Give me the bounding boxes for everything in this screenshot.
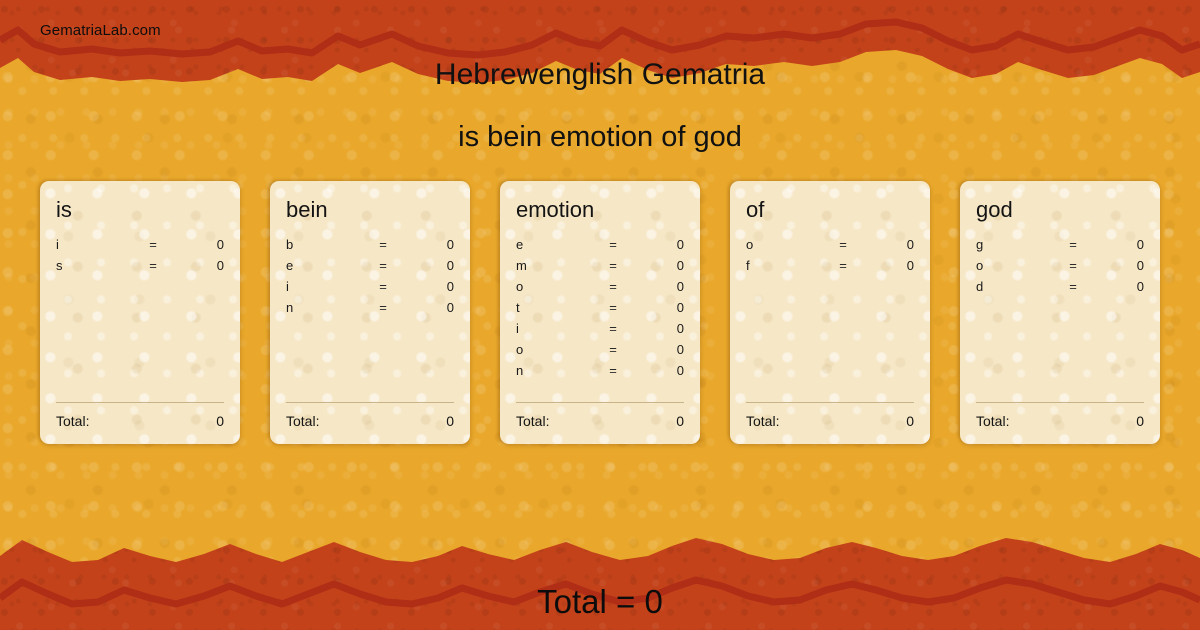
letter-glyph: t <box>516 300 590 315</box>
letter-glyph: o <box>746 237 820 252</box>
card-total-row: Total:0 <box>976 413 1144 429</box>
letter-glyph: i <box>286 279 360 294</box>
letter-value: 0 <box>176 258 224 273</box>
letter-value: 0 <box>406 279 454 294</box>
card-total-value: 0 <box>216 413 224 429</box>
equals-sign: = <box>590 300 636 315</box>
word-card-title: bein <box>286 199 454 221</box>
letter-glyph: f <box>746 258 820 273</box>
letter-value-row: o=0 <box>746 237 914 258</box>
letter-value: 0 <box>406 237 454 252</box>
letter-glyph: s <box>56 258 130 273</box>
letter-value-row: f=0 <box>746 258 914 279</box>
letter-value: 0 <box>176 237 224 252</box>
letter-value-row: g=0 <box>976 237 1144 258</box>
card-divider <box>746 402 914 403</box>
word-card: beinb=0e=0i=0n=0Total:0 <box>270 181 470 444</box>
letter-value-list: e=0m=0o=0t=0i=0o=0n=0 <box>516 237 684 384</box>
equals-sign: = <box>360 237 406 252</box>
equals-sign: = <box>590 342 636 357</box>
card-total-label: Total: <box>286 413 319 429</box>
letter-value: 0 <box>636 321 684 336</box>
letter-value: 0 <box>636 300 684 315</box>
equals-sign: = <box>590 279 636 294</box>
word-card-title: is <box>56 199 224 221</box>
card-total-value: 0 <box>446 413 454 429</box>
letter-value-row: m=0 <box>516 258 684 279</box>
card-divider <box>56 402 224 403</box>
letter-glyph: o <box>516 342 590 357</box>
card-divider <box>516 402 684 403</box>
card-total-label: Total: <box>516 413 549 429</box>
letter-value-row: n=0 <box>286 300 454 321</box>
gematria-result-image: GematriaLab.com Hebrewenglish Gematria i… <box>0 0 1200 630</box>
equals-sign: = <box>1050 279 1096 294</box>
card-total-row: Total:0 <box>516 413 684 429</box>
equals-sign: = <box>590 321 636 336</box>
letter-glyph: n <box>516 363 590 378</box>
card-divider <box>976 402 1144 403</box>
card-total-value: 0 <box>906 413 914 429</box>
letter-value-row: e=0 <box>286 258 454 279</box>
word-card-title: emotion <box>516 199 684 221</box>
phrase-subtitle: is bein emotion of god <box>0 121 1200 154</box>
site-logo[interactable]: GematriaLab.com <box>40 22 161 39</box>
letter-value: 0 <box>636 363 684 378</box>
letter-value-list: o=0f=0 <box>746 237 914 279</box>
letter-value-row: s=0 <box>56 258 224 279</box>
letter-glyph: n <box>286 300 360 315</box>
equals-sign: = <box>590 258 636 273</box>
letter-glyph: e <box>286 258 360 273</box>
letter-glyph: e <box>516 237 590 252</box>
card-divider <box>286 402 454 403</box>
letter-value-row: e=0 <box>516 237 684 258</box>
letter-value-row: o=0 <box>516 279 684 300</box>
letter-value: 0 <box>636 258 684 273</box>
card-total-row: Total:0 <box>746 413 914 429</box>
equals-sign: = <box>820 258 866 273</box>
letter-value: 0 <box>1096 258 1144 273</box>
word-card: isi=0s=0Total:0 <box>40 181 240 444</box>
equals-sign: = <box>130 258 176 273</box>
letter-value-list: i=0s=0 <box>56 237 224 279</box>
letter-glyph: d <box>976 279 1050 294</box>
letter-glyph: i <box>56 237 130 252</box>
letter-value-row: d=0 <box>976 279 1144 300</box>
letter-glyph: o <box>976 258 1050 273</box>
equals-sign: = <box>1050 237 1096 252</box>
word-card: godg=0o=0d=0Total:0 <box>960 181 1160 444</box>
letter-value-row: o=0 <box>516 342 684 363</box>
letter-value-row: o=0 <box>976 258 1144 279</box>
equals-sign: = <box>590 237 636 252</box>
word-card: emotione=0m=0o=0t=0i=0o=0n=0Total:0 <box>500 181 700 444</box>
letter-value: 0 <box>636 237 684 252</box>
letter-value: 0 <box>636 279 684 294</box>
equals-sign: = <box>360 258 406 273</box>
grand-total: Total = 0 <box>0 583 1200 621</box>
letter-value: 0 <box>406 258 454 273</box>
letter-value: 0 <box>406 300 454 315</box>
letter-glyph: g <box>976 237 1050 252</box>
equals-sign: = <box>360 300 406 315</box>
card-total-label: Total: <box>746 413 779 429</box>
letter-glyph: b <box>286 237 360 252</box>
letter-glyph: i <box>516 321 590 336</box>
letter-value: 0 <box>866 237 914 252</box>
equals-sign: = <box>1050 258 1096 273</box>
letter-value-row: t=0 <box>516 300 684 321</box>
letter-value-list: b=0e=0i=0n=0 <box>286 237 454 321</box>
word-card: ofo=0f=0Total:0 <box>730 181 930 444</box>
card-total-label: Total: <box>56 413 89 429</box>
word-card-list: isi=0s=0Total:0beinb=0e=0i=0n=0Total:0em… <box>40 181 1160 444</box>
card-total-value: 0 <box>1136 413 1144 429</box>
letter-value: 0 <box>636 342 684 357</box>
equals-sign: = <box>820 237 866 252</box>
letter-value-row: i=0 <box>286 279 454 300</box>
card-total-row: Total:0 <box>56 413 224 429</box>
page-title: Hebrewenglish Gematria <box>0 58 1200 92</box>
letter-value: 0 <box>1096 237 1144 252</box>
word-card-title: god <box>976 199 1144 221</box>
card-total-label: Total: <box>976 413 1009 429</box>
letter-glyph: o <box>516 279 590 294</box>
letter-value-row: i=0 <box>56 237 224 258</box>
letter-value: 0 <box>1096 279 1144 294</box>
equals-sign: = <box>360 279 406 294</box>
equals-sign: = <box>590 363 636 378</box>
card-total-value: 0 <box>676 413 684 429</box>
letter-glyph: m <box>516 258 590 273</box>
letter-value-list: g=0o=0d=0 <box>976 237 1144 300</box>
word-card-title: of <box>746 199 914 221</box>
card-total-row: Total:0 <box>286 413 454 429</box>
letter-value-row: i=0 <box>516 321 684 342</box>
letter-value-row: b=0 <box>286 237 454 258</box>
equals-sign: = <box>130 237 176 252</box>
letter-value-row: n=0 <box>516 363 684 384</box>
letter-value: 0 <box>866 258 914 273</box>
